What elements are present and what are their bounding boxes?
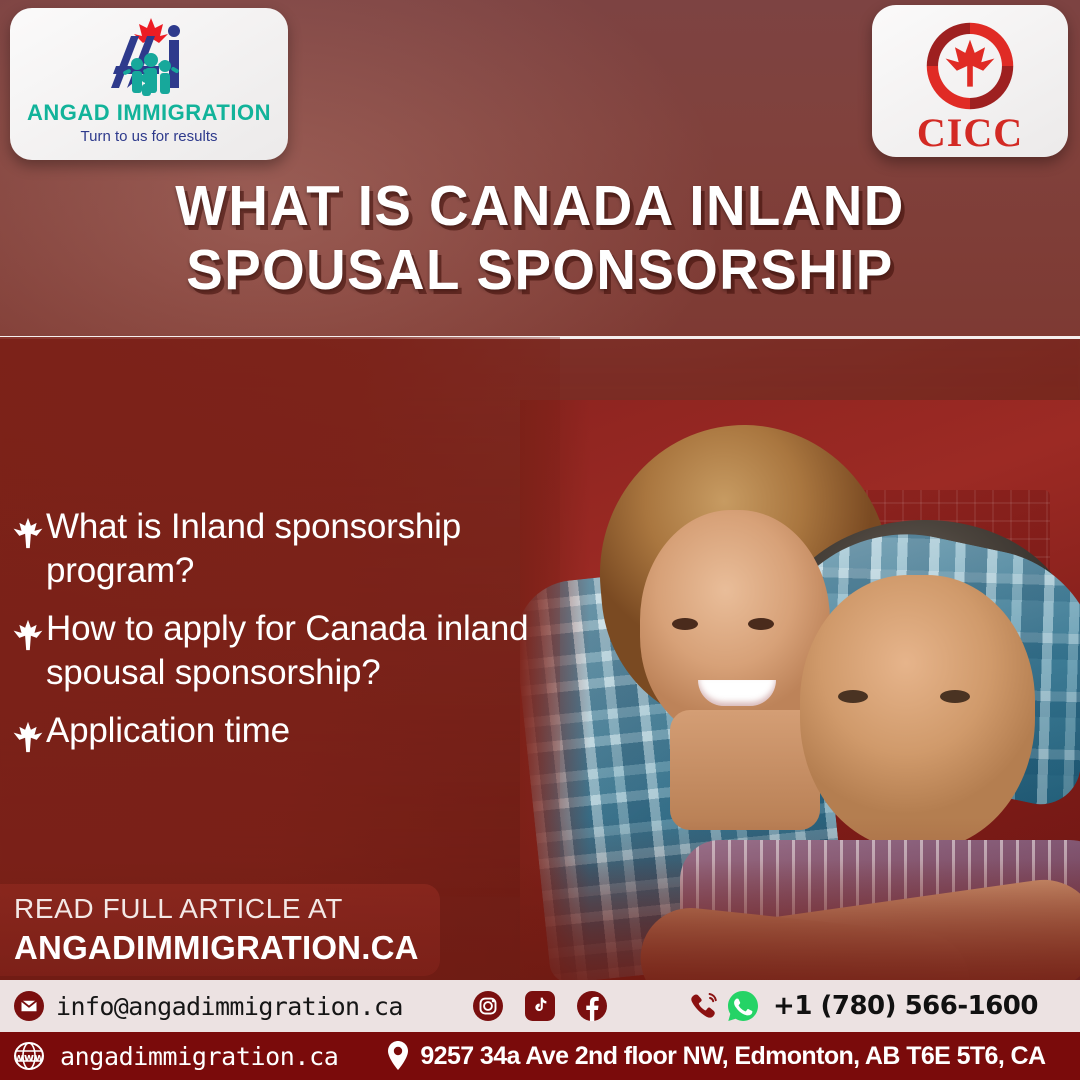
list-item-label: Application time <box>46 709 290 753</box>
list-item: Application time <box>10 709 550 757</box>
www-globe-icon: www <box>10 1040 48 1072</box>
whatsapp-icon[interactable] <box>727 990 759 1022</box>
contact-bar: info@angadimmigration.ca <box>0 980 1080 1032</box>
cicc-label: CICC <box>872 109 1068 156</box>
angad-brand-name: ANGAD IMMIGRATION <box>10 100 288 126</box>
envelope-icon <box>14 991 44 1021</box>
facebook-icon[interactable] <box>577 991 607 1021</box>
list-item: What is Inland sponsorship program? <box>10 505 550 593</box>
ringing-phone-icon <box>687 990 721 1022</box>
website-url: angadimmigration.ca <box>60 1042 338 1071</box>
angad-logo-card[interactable]: ANGAD IMMIGRATION Turn to us for results <box>10 8 288 160</box>
list-item-label: How to apply for Canada inland spousal s… <box>46 607 550 695</box>
email-address: info@angadimmigration.ca <box>56 992 403 1021</box>
email-contact[interactable]: info@angadimmigration.ca <box>14 991 403 1021</box>
cicc-maple-ring-icon <box>918 19 1022 113</box>
social-media-poster: ANGAD IMMIGRATION Turn to us for results… <box>0 0 1080 1080</box>
list-item-label: What is Inland sponsorship program? <box>46 505 550 593</box>
maple-leaf-bullet-icon <box>10 513 46 553</box>
cicc-badge-card[interactable]: CICC <box>872 5 1068 157</box>
angad-tagline: Turn to us for results <box>10 128 288 145</box>
address-text: 9257 34a Ave 2nd floor NW, Edmonton, AB … <box>420 1042 1045 1071</box>
angad-ai-monogram-icon <box>89 16 209 96</box>
instagram-icon[interactable] <box>473 991 503 1021</box>
maple-leaf-bullet-icon <box>10 717 46 757</box>
bullet-list: What is Inland sponsorship program? How … <box>10 505 550 771</box>
footer-bar: www angadimmigration.ca 9257 34a Ave 2nd… <box>0 1032 1080 1080</box>
website-link[interactable]: www angadimmigration.ca <box>10 1040 338 1072</box>
map-pin-icon <box>382 1039 414 1073</box>
phone-number: +1 (780) 566-1600 <box>773 991 1038 1021</box>
man-face <box>800 575 1035 850</box>
phone-contact[interactable]: +1 (780) 566-1600 <box>687 990 1038 1022</box>
maple-leaf-bullet-icon <box>10 615 46 655</box>
tiktok-icon[interactable] <box>525 991 555 1021</box>
woman-neck <box>670 710 820 830</box>
office-address: 9257 34a Ave 2nd floor NW, Edmonton, AB … <box>382 1039 1045 1073</box>
page-title: WHAT IS CANADA INLAND SPOUSAL SPONSORSHI… <box>56 175 1024 303</box>
cta-prompt: READ FULL ARTICLE AT <box>14 893 343 925</box>
svg-text:www: www <box>14 1051 45 1064</box>
list-item: How to apply for Canada inland spousal s… <box>10 607 550 695</box>
cta-website[interactable]: ANGADIMMIGRATION.CA <box>14 929 419 967</box>
social-links <box>473 991 607 1021</box>
